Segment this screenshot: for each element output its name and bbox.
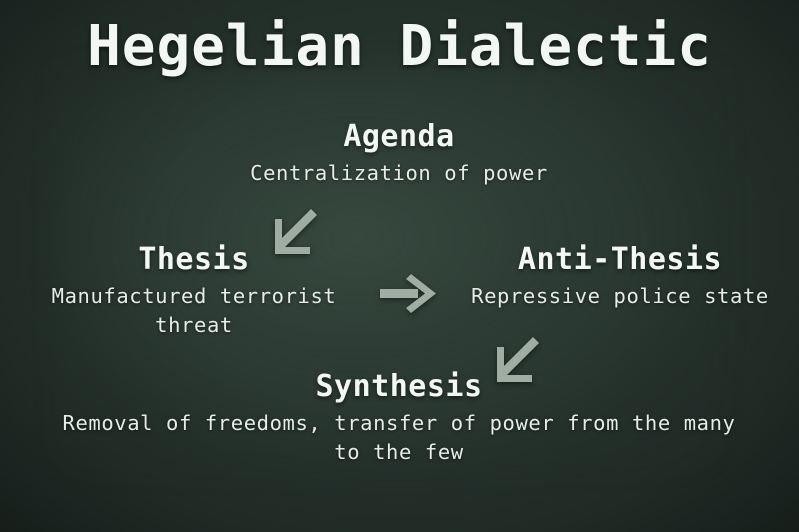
node-agenda: Agenda Centralization of power (239, 120, 559, 188)
node-antithesis: Anti-Thesis Repressive police state (450, 243, 790, 311)
node-agenda-description: Centralization of power (239, 159, 559, 188)
arrow-down-left-icon (267, 203, 319, 255)
node-agenda-heading: Agenda (239, 120, 559, 155)
node-thesis-description: Manufactured terrorist threat (9, 282, 379, 340)
node-thesis-heading: Thesis (9, 243, 379, 278)
node-thesis: Thesis Manufactured terrorist threat (9, 243, 379, 340)
page-title: Hegelian Dialectic (0, 14, 799, 79)
node-synthesis: Synthesis Removal of freedoms, transfer … (49, 370, 749, 467)
node-synthesis-description: Removal of freedoms, transfer of power f… (49, 409, 749, 467)
arrow-down-left-icon (489, 331, 541, 383)
node-synthesis-heading: Synthesis (49, 370, 749, 405)
node-antithesis-heading: Anti-Thesis (450, 243, 790, 278)
dialectic-diagram: Hegelian Dialectic Agenda Centralization… (0, 0, 799, 532)
node-antithesis-description: Repressive police state (450, 282, 790, 311)
arrow-right-icon (378, 272, 438, 316)
